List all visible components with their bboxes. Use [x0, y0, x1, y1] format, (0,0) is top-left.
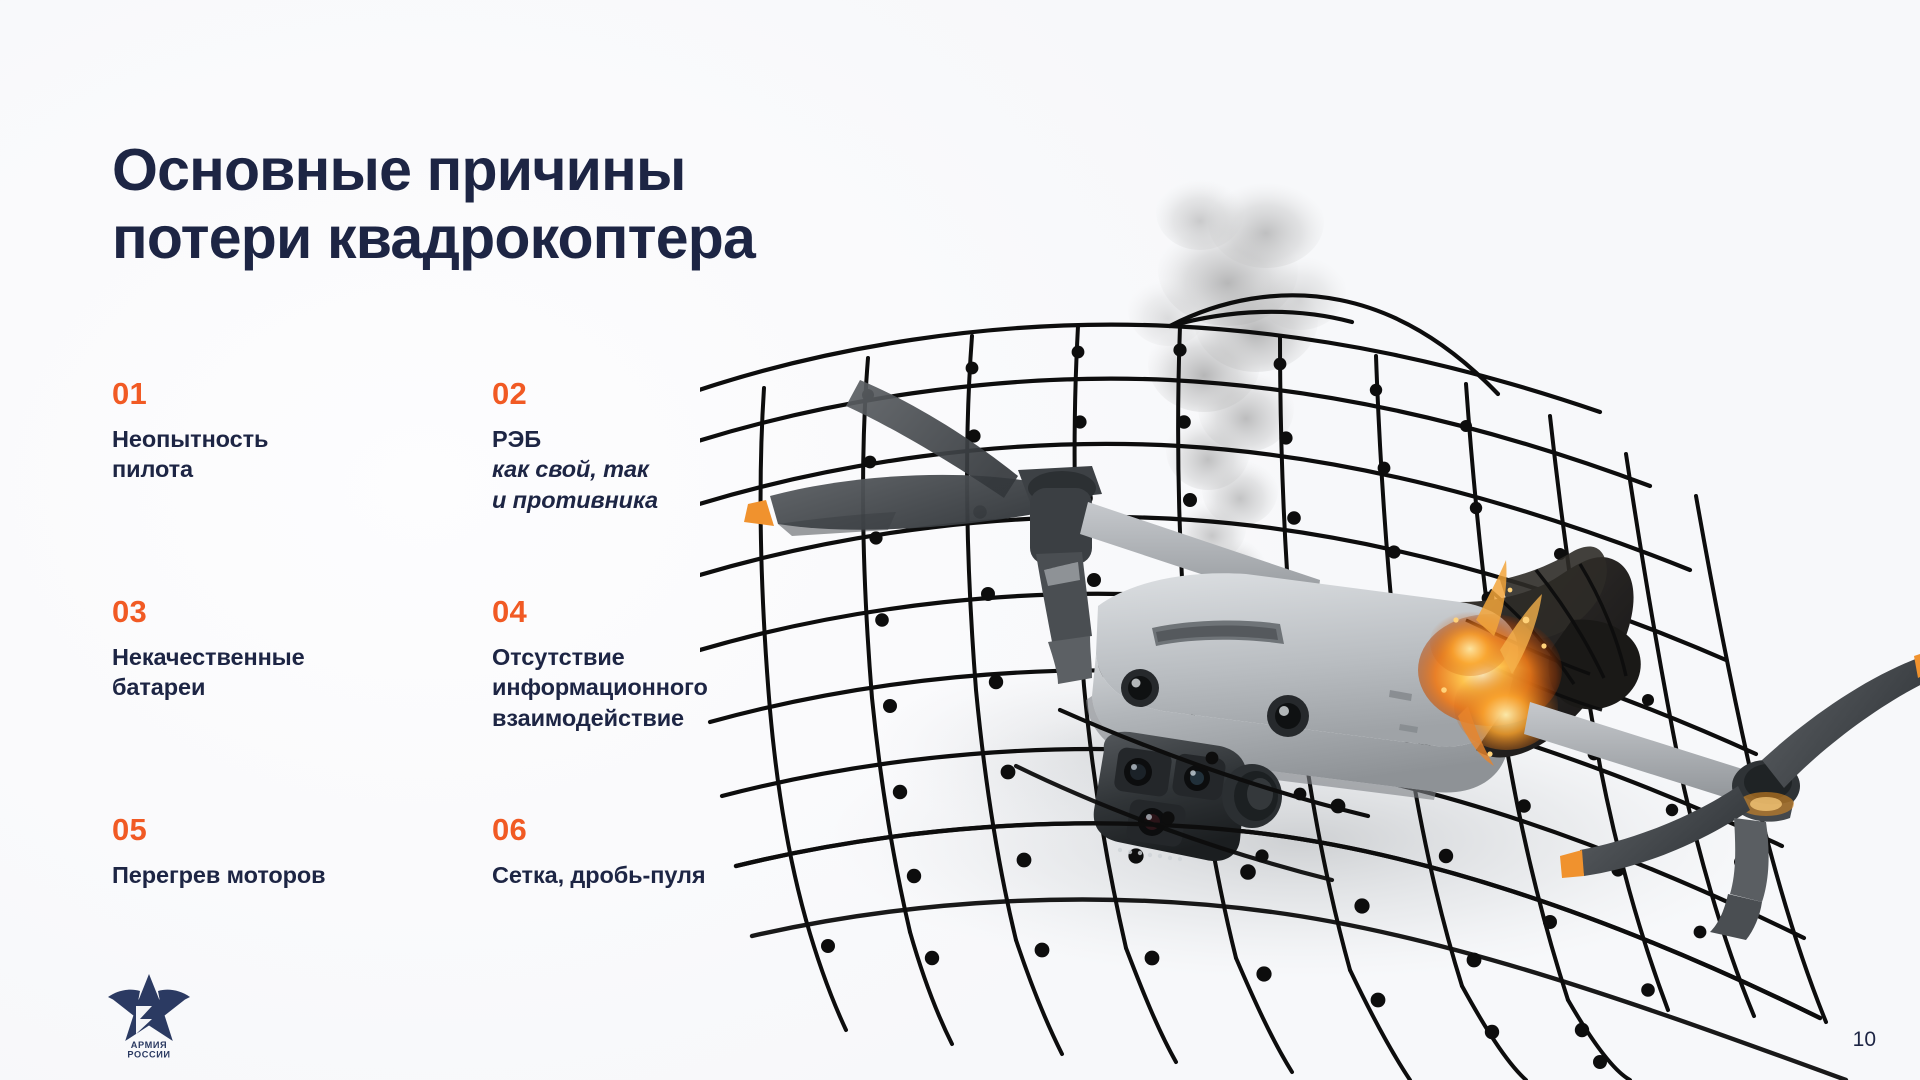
reason-item-05: 05 Перегрев моторов — [112, 814, 492, 890]
reason-item-04: 04 Отсутствие информационного взаимодейс… — [492, 596, 792, 814]
logo-line-2: РОССИИ — [127, 1050, 170, 1059]
reasons-row-1: 01 Неопытность пилота 02 РЭБ как свой, т… — [112, 378, 792, 596]
reasons-row-3: 05 Перегрев моторов 06 Сетка, дробь-пуля — [112, 814, 792, 890]
net-front-overlay — [736, 823, 1846, 1080]
reasons-list: 01 Неопытность пилота 02 РЭБ как свой, т… — [112, 378, 792, 890]
reason-number-02: 02 — [492, 378, 762, 409]
reason-subtext-02: как свой, так и противника — [492, 454, 762, 515]
logo-line-1: АРМИЯ — [131, 1040, 168, 1050]
reason-label-05: Перегрев моторов — [112, 860, 462, 890]
reasons-row-2: 03 Некачественные батареи 04 Отсутствие … — [112, 596, 792, 814]
drone-body — [1086, 573, 1518, 800]
right-propeller-assembly — [1524, 650, 1920, 940]
reason-number-03: 03 — [112, 596, 462, 627]
slide-root: Основные причины потери квадрокоптера 01… — [0, 0, 1920, 1080]
reason-number-01: 01 — [112, 378, 462, 409]
gimbal-camera — [1094, 732, 1282, 862]
page-title: Основные причины потери квадрокоптера — [112, 136, 755, 273]
reason-item-06: 06 Сетка, дробь-пуля — [492, 814, 792, 890]
drone-net-artwork — [700, 150, 1920, 1080]
page-number: 10 — [1853, 1028, 1876, 1052]
burnt-rear-section — [1460, 547, 1641, 758]
reason-item-01: 01 Неопытность пилота — [112, 378, 492, 596]
reason-item-02: 02 РЭБ как свой, так и противника — [492, 378, 792, 596]
reason-label-01: Неопытность пилота — [112, 424, 462, 485]
reason-number-05: 05 — [112, 814, 462, 845]
left-propeller — [744, 380, 1066, 536]
reason-number-06: 06 — [492, 814, 762, 845]
reason-label-03: Некачественные батареи — [112, 642, 462, 703]
reason-number-04: 04 — [492, 596, 762, 627]
army-of-russia-logo: АРМИЯ РОССИИ — [106, 966, 192, 1058]
reason-label-06: Сетка, дробь-пуля — [492, 860, 762, 890]
reason-label-04: Отсутствие информационного взаимодействи… — [492, 642, 762, 733]
reason-label-02: РЭБ — [492, 424, 762, 454]
net-front-strands — [1016, 710, 1368, 880]
smoke-plume — [1128, 174, 1346, 590]
left-motor-arm — [1018, 466, 1320, 684]
net-mesh — [700, 295, 1826, 1037]
flames — [1418, 560, 1562, 766]
reason-item-03: 03 Некачественные батареи — [112, 596, 492, 814]
